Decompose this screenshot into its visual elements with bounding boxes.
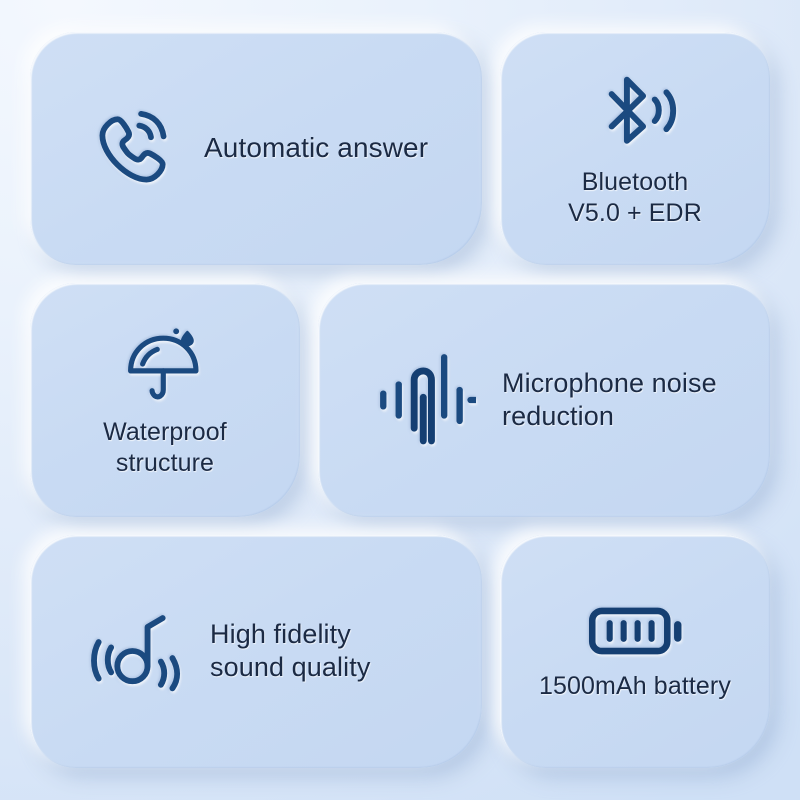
- feature-label: High fidelity sound quality: [210, 618, 370, 685]
- feature-card-microphone[interactable]: Microphone noise reduction: [318, 283, 770, 516]
- music-note-sound-icon: [88, 606, 184, 696]
- feature-card-battery[interactable]: 1500mAh battery: [500, 535, 770, 768]
- feature-label: Waterproof structure: [103, 417, 227, 479]
- feature-card-bluetooth[interactable]: Bluetooth V5.0 + EDR: [500, 32, 770, 265]
- battery-icon: [587, 601, 683, 661]
- feature-card-automatic-answer[interactable]: Automatic answer: [30, 32, 482, 265]
- waveform-icon: [376, 350, 476, 450]
- feature-label: Bluetooth V5.0 + EDR: [568, 167, 702, 228]
- feature-card-waterproof[interactable]: Waterproof structure: [30, 283, 300, 516]
- feature-card-highfidelity[interactable]: High fidelity sound quality: [30, 535, 482, 768]
- feature-grid: Automatic answer Bluetooth V5.0 + EDR: [30, 32, 770, 768]
- umbrella-icon: [122, 321, 208, 407]
- feature-row-1: Automatic answer Bluetooth V5.0 + EDR: [30, 32, 770, 265]
- feature-label: Microphone noise reduction: [502, 367, 717, 434]
- feature-grid-page: Automatic answer Bluetooth V5.0 + EDR: [0, 0, 800, 800]
- feature-label: 1500mAh battery: [539, 671, 731, 702]
- feature-label: Automatic answer: [204, 131, 428, 166]
- feature-row-2: Waterproof structure Microphone noise re…: [30, 283, 770, 516]
- phone-call-icon: [88, 104, 178, 194]
- feature-row-3: High fidelity sound quality 1500mAh batt…: [30, 535, 770, 768]
- bluetooth-icon: [588, 69, 682, 157]
